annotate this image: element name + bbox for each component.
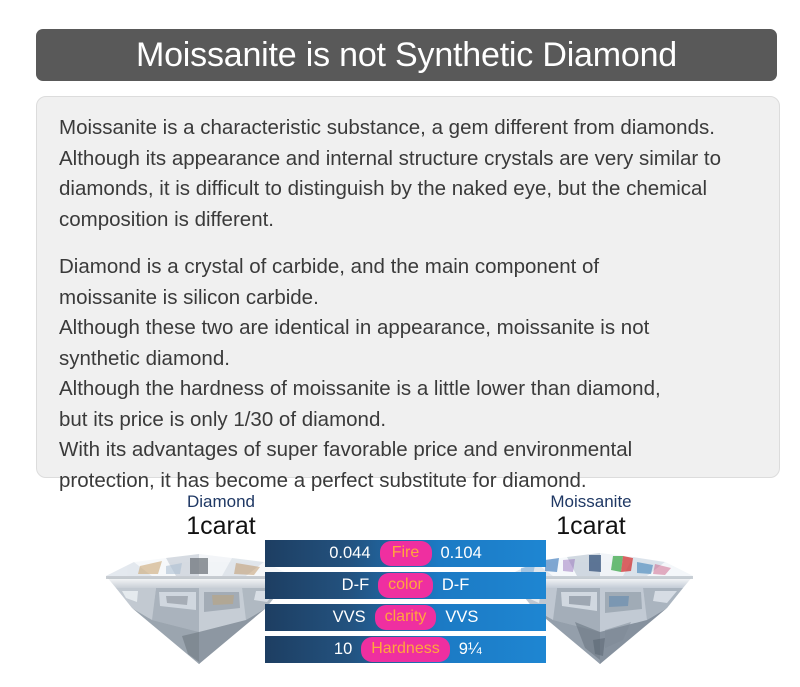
row-fire-diamond-value: 0.044 [288,545,380,562]
row-color-diamond-value: D-F [286,577,378,594]
row-hardness-property-badge: Hardness [361,637,449,662]
comparison-bars: 0.044 Fire 0.104 D-F color D-F VVS clari… [265,540,546,665]
caption-moissanite: Moissanite 1carat [496,492,686,541]
row-hardness-diamond-value: 10 [269,641,361,658]
text-line: With its advantages of super favorable p… [59,435,757,466]
row-color-moissanite-value: D-F [433,577,525,594]
description-card: Moissanite is a characteristic substance… [36,96,780,478]
paragraph-intro: Moissanite is a characteristic substance… [59,113,757,235]
text-line: Although the hardness of moissanite is a… [59,374,757,405]
row-color-property-badge: color [378,573,433,598]
text-line: Although its appearance and internal str… [59,144,757,175]
row-fire-property-badge: Fire [380,541,432,566]
comparison-row-clarity: VVS clarity VVS [265,604,546,631]
caption-diamond: Diamond 1carat [131,492,311,541]
page-title: Moissanite is not Synthetic Diamond [136,38,677,72]
text-line: composition is different. [59,205,757,236]
text-line: diamonds, it is difficult to distinguish… [59,174,757,205]
row-clarity-moissanite-value: VVS [436,609,528,626]
text-line: but its price is only 1/30 of diamond. [59,405,757,436]
row-clarity-diamond-value: VVS [283,609,375,626]
comparison-row-fire: 0.044 Fire 0.104 [265,540,546,567]
text-line: Although these two are identical in appe… [59,313,757,344]
title-banner: Moissanite is not Synthetic Diamond [36,29,777,81]
text-line: synthetic diamond. [59,344,757,375]
text-line: moissanite is silicon carbide. [59,283,757,314]
comparison-row-color: D-F color D-F [265,572,546,599]
row-clarity-property-badge: clarity [375,605,437,630]
row-fire-moissanite-value: 0.104 [432,545,524,562]
text-line: Moissanite is a characteristic substance… [59,113,757,144]
caption-moissanite-name: Moissanite [496,492,686,512]
paragraph-details: Diamond is a crystal of carbide, and the… [59,252,757,496]
comparison-row-hardness: 10 Hardness 9¼ [265,636,546,663]
caption-diamond-name: Diamond [131,492,311,512]
row-hardness-moissanite-value: 9¼ [450,641,542,658]
text-line: Diamond is a crystal of carbide, and the… [59,252,757,283]
comparison-figure: Diamond 1carat Moissanite 1carat [0,478,800,687]
